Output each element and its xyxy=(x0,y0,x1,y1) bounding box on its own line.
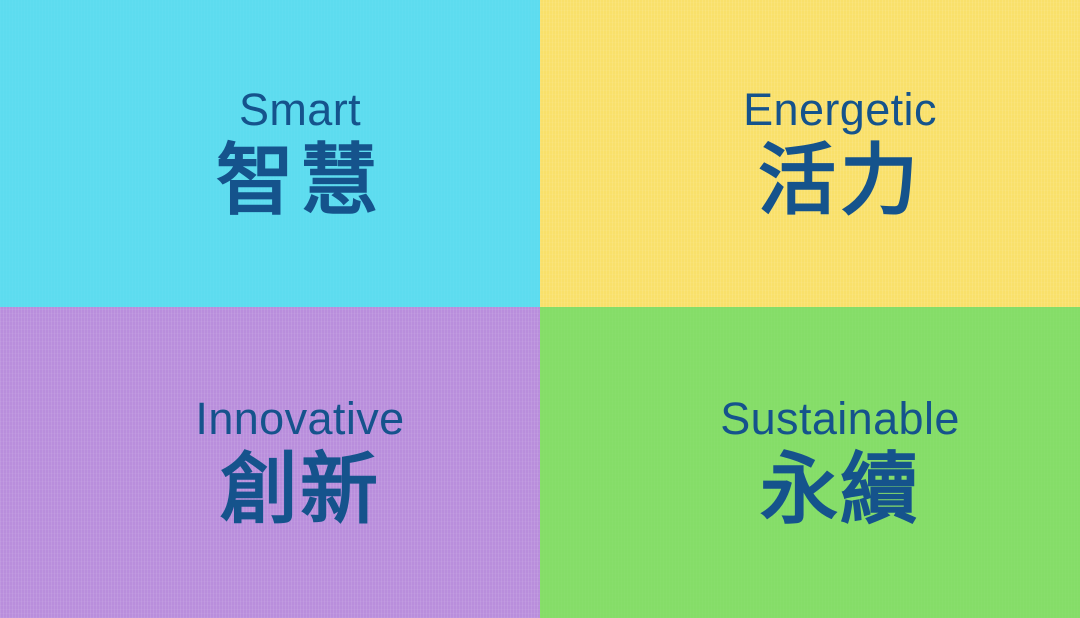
value-text-block-sustainable: Sustainable 永續 xyxy=(720,396,960,529)
value-label-en-innovative: Innovative xyxy=(195,396,404,441)
value-label-en-sustainable: Sustainable xyxy=(720,396,960,441)
value-label-cjk-energetic: 活力 xyxy=(743,142,937,220)
value-label-en-energetic: Energetic xyxy=(743,87,937,132)
value-label-cjk-innovative: 創新 xyxy=(195,451,404,529)
value-text-block-innovative: Innovative 創新 xyxy=(195,396,404,529)
value-label-cjk-sustainable: 永續 xyxy=(720,451,960,529)
value-text-block-smart: Smart 智慧 xyxy=(216,87,384,220)
quadrant-smart: Smart 智慧 xyxy=(0,0,540,307)
quadrant-energetic: Energetic 活力 xyxy=(540,0,1080,307)
value-label-en-smart: Smart xyxy=(216,87,384,132)
brand-values-poster: Smart 智慧 Energetic 活力 Innovative 創新 Sust… xyxy=(0,0,1080,618)
value-label-cjk-smart: 智慧 xyxy=(216,142,384,220)
quadrant-innovative: Innovative 創新 xyxy=(0,307,540,618)
value-text-block-energetic: Energetic 活力 xyxy=(743,87,937,220)
quadrant-sustainable: Sustainable 永續 xyxy=(540,307,1080,618)
